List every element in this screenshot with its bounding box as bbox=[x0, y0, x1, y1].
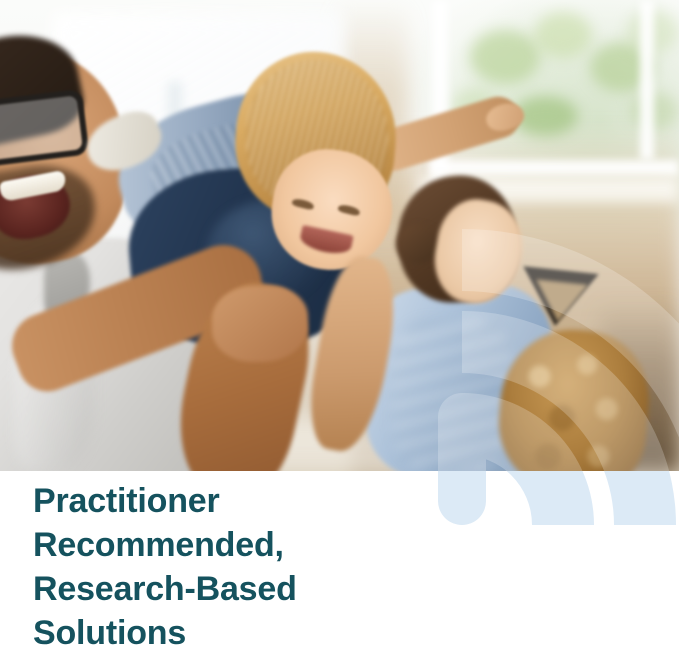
foliage-blob bbox=[534, 12, 592, 58]
caption-block: Practitioner Recommended, Research-Based… bbox=[0, 471, 679, 667]
hero-photo bbox=[0, 0, 679, 471]
woman-hair-bun bbox=[396, 224, 440, 264]
page-title: Practitioner Recommended, Research-Based… bbox=[33, 479, 297, 655]
pendant-lamp-inner bbox=[532, 279, 588, 324]
window-mullion bbox=[640, 0, 654, 160]
man-hand bbox=[212, 286, 308, 362]
window-rail bbox=[430, 160, 679, 176]
foliage-blob bbox=[630, 92, 678, 130]
shirt-folds bbox=[392, 320, 512, 470]
marketing-banner-page: Practitioner Recommended, Research-Based… bbox=[0, 0, 679, 667]
foliage-blob bbox=[470, 30, 540, 84]
second-child-curls bbox=[506, 338, 646, 471]
